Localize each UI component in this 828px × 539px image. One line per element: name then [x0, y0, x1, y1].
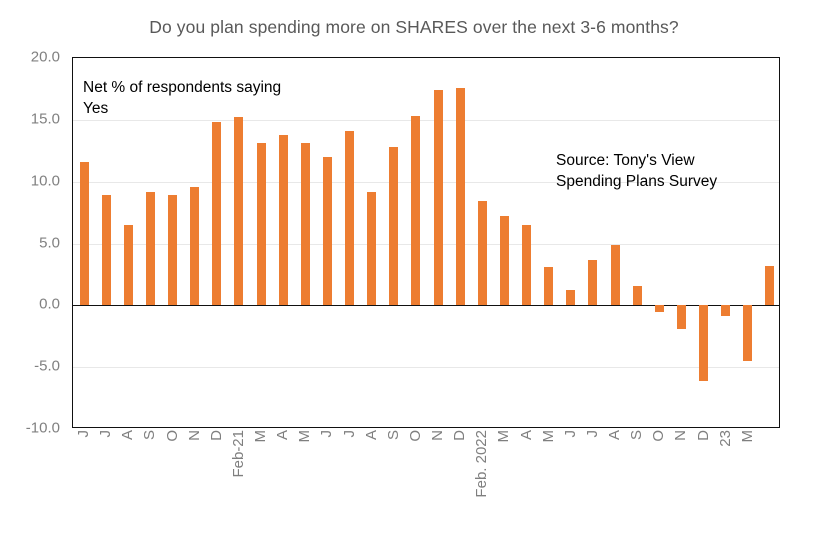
bar [168, 195, 177, 305]
bar [323, 157, 332, 305]
bar [434, 90, 443, 305]
bar [389, 147, 398, 305]
x-tick-label: M [495, 430, 512, 443]
x-tick-label: Feb-21 [230, 430, 247, 478]
bar [212, 122, 221, 305]
x-tick-label: J [562, 430, 579, 438]
x-tick-label: Feb. 2022 [473, 430, 490, 498]
bar [367, 192, 376, 306]
x-tick-label: J [341, 430, 358, 438]
x-tick-label: A [606, 430, 623, 440]
x-tick-label: J [97, 430, 114, 438]
x-tick-label: D [695, 430, 712, 441]
x-tick-label: M [739, 430, 756, 443]
bar [80, 162, 89, 305]
x-tick-label: O [164, 430, 181, 442]
zero-axis-line [73, 305, 779, 307]
x-tick-label: A [518, 430, 535, 440]
bar [478, 201, 487, 305]
bar [234, 117, 243, 305]
annotation-net-percent: Net % of respondents saying Yes [83, 77, 281, 119]
bar [456, 88, 465, 306]
y-tick-label: 20.0 [0, 49, 66, 66]
x-tick-label: J [75, 430, 92, 438]
x-tick-label: D [451, 430, 468, 441]
bar [677, 305, 686, 328]
x-tick-label: N [429, 430, 446, 441]
annotation-source: Source: Tony's View Spending Plans Surve… [556, 150, 717, 192]
chart-title: Do you plan spending more on SHARES over… [0, 17, 828, 38]
bar [588, 260, 597, 306]
bar [699, 305, 708, 380]
bar [301, 143, 310, 305]
gridline-5.0 [73, 244, 779, 245]
y-tick-label: 15.0 [0, 110, 66, 127]
bar [633, 286, 642, 306]
x-tick-label: A [363, 430, 380, 440]
y-tick-label: 10.0 [0, 172, 66, 189]
x-axis: JJASONDFeb-21MAMJJASONDFeb. 2022MAMJJASO… [72, 430, 780, 539]
bar [611, 245, 620, 306]
bar [345, 131, 354, 305]
bar [655, 305, 664, 311]
bar [124, 225, 133, 305]
bar [279, 135, 288, 306]
chart-root: Do you plan spending more on SHARES over… [0, 0, 828, 539]
bar [544, 267, 553, 305]
x-tick-label: D [208, 430, 225, 441]
bar [566, 290, 575, 305]
bar [411, 116, 420, 305]
bar [146, 192, 155, 306]
x-tick-label: S [385, 430, 402, 440]
x-tick-label: J [318, 430, 335, 438]
gridline-15.0 [73, 120, 779, 121]
x-tick-label: M [252, 430, 269, 443]
bar [721, 305, 730, 316]
bar [102, 195, 111, 305]
y-axis: 20.015.010.05.00.0-5.0-10.0 [0, 57, 66, 428]
bar [500, 216, 509, 305]
y-tick-label: -10.0 [0, 420, 66, 437]
x-tick-label: 23 [717, 430, 734, 447]
bar [743, 305, 752, 361]
x-tick-label: O [650, 430, 667, 442]
y-tick-label: -5.0 [0, 358, 66, 375]
bar [190, 187, 199, 306]
x-tick-label: A [119, 430, 136, 440]
x-tick-label: M [296, 430, 313, 443]
bar [765, 266, 774, 306]
bar [522, 225, 531, 305]
bar [257, 143, 266, 305]
x-tick-label: S [628, 430, 645, 440]
gridline--5.0 [73, 367, 779, 368]
x-tick-label: M [540, 430, 557, 443]
x-tick-label: N [186, 430, 203, 441]
x-tick-label: S [141, 430, 158, 440]
x-tick-label: O [407, 430, 424, 442]
x-tick-label: J [584, 430, 601, 438]
x-tick-label: N [672, 430, 689, 441]
x-tick-label: A [274, 430, 291, 440]
y-tick-label: 5.0 [0, 234, 66, 251]
y-tick-label: 0.0 [0, 296, 66, 313]
